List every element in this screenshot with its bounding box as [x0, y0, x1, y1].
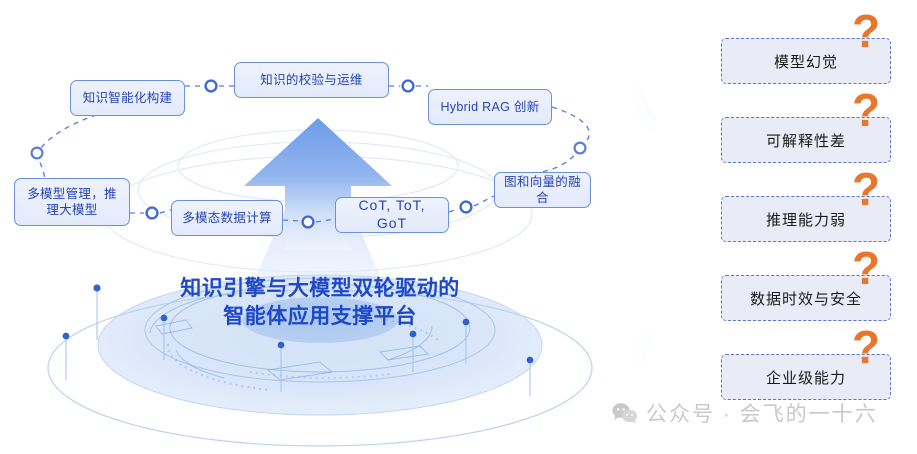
node-graph-vector-fusion[interactable]: 图和向量的融合: [494, 172, 591, 208]
node-multimodal-compute[interactable]: 多模态数据计算: [171, 200, 283, 236]
issue-label: 推理能力弱: [766, 209, 846, 230]
node-label: CoT, ToT, GoT: [343, 197, 441, 233]
issue-label: 模型幻觉: [774, 51, 838, 72]
question-mark-icon-3: ?: [852, 166, 880, 212]
node-multi-model-management[interactable]: 多模型管理，推理大模型: [14, 178, 130, 226]
node-hybrid-rag[interactable]: Hybrid RAG 创新: [428, 89, 552, 125]
node-knowledge-verify[interactable]: 知识的校验与运维: [234, 62, 389, 98]
issue-label: 企业级能力: [766, 367, 846, 388]
infographic-canvas: 知识智能化构建 知识的校验与运维 Hybrid RAG 创新 图和向量的融合 C…: [0, 0, 917, 454]
watermark: 公众号 · 会飞的一十六: [612, 398, 878, 428]
question-mark-icon-4: ?: [852, 245, 880, 291]
node-knowledge-build[interactable]: 知识智能化构建: [70, 80, 185, 116]
question-mark-icon-5: ?: [852, 324, 880, 370]
wechat-icon: [612, 402, 638, 424]
node-label: 图和向量的融合: [502, 174, 583, 206]
question-mark-icon-1: ?: [852, 8, 880, 54]
node-label: 多模态数据计算: [182, 210, 272, 226]
question-mark-icon-2: ?: [852, 87, 880, 133]
issue-label: 数据时效与安全: [750, 288, 862, 309]
issue-label: 可解释性差: [766, 130, 846, 151]
platform-title: 知识引擎与大模型双轮驱动的 智能体应用支撑平台: [110, 275, 530, 330]
node-cot-tot-got[interactable]: CoT, ToT, GoT: [335, 197, 449, 233]
watermark-text: 公众号 · 会飞的一十六: [646, 398, 878, 428]
node-label: 知识智能化构建: [83, 90, 173, 106]
node-label: Hybrid RAG 创新: [440, 99, 539, 115]
node-label: 多模型管理，推理大模型: [22, 186, 122, 218]
node-label: 知识的校验与运维: [260, 72, 362, 88]
